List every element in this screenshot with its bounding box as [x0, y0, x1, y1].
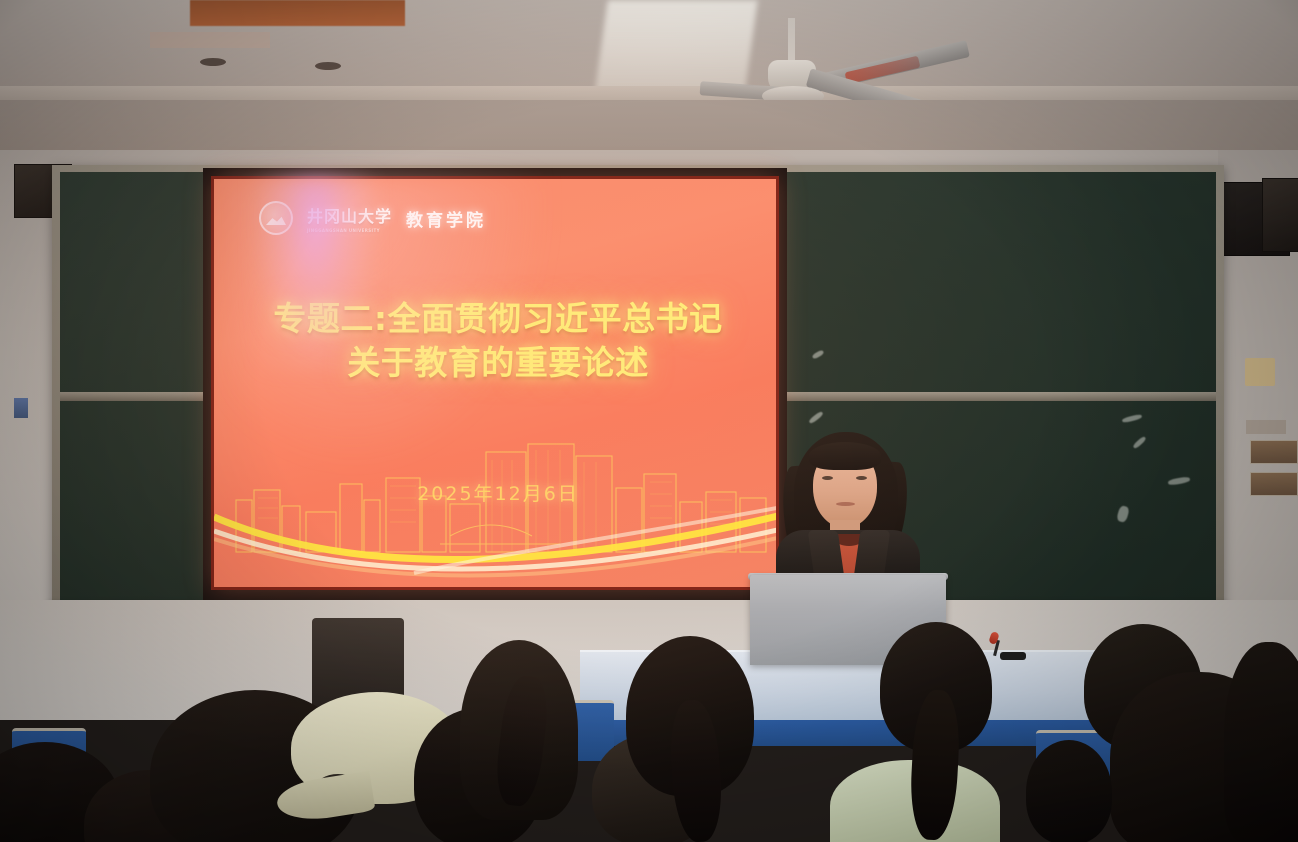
university-name: 井冈山大学 JINGGANGSHAN UNIVERSITY	[307, 203, 392, 233]
ceiling-panel	[190, 0, 405, 26]
university-seal-icon	[259, 201, 293, 235]
ribbon-graphic	[214, 477, 779, 587]
presenter-eye	[856, 476, 867, 480]
presenter	[768, 430, 928, 590]
slide-title-line2: 关于教育的重要论述	[214, 341, 779, 385]
slide-title: 专题二:全面贯彻习近平总书记 关于教育的重要论述	[214, 297, 779, 385]
fan-rod	[788, 18, 795, 64]
presenter-fringe	[809, 442, 881, 470]
slide-title-line1: 专题二:全面贯彻习近平总书记	[214, 297, 779, 341]
university-name-pinyin: JINGGANGSHAN UNIVERSITY	[307, 228, 392, 233]
wall-strip	[1246, 420, 1286, 434]
presenter-eye	[822, 476, 833, 480]
ceiling-hole	[315, 62, 341, 70]
lecture-hall-photo: 2025年 12月 6日 18:11:39 井冈山大学 JINGGANGSHAN…	[0, 0, 1298, 842]
presentation-slide: 井冈山大学 JINGGANGSHAN UNIVERSITY 教育学院 专题二:全…	[211, 176, 779, 590]
wall-plaque	[1250, 440, 1298, 464]
university-name-text: 井冈山大学	[307, 207, 392, 226]
corner-speaker	[1262, 178, 1298, 252]
college-name: 教育学院	[406, 206, 486, 231]
audience-head	[1224, 642, 1298, 842]
wall-sign-left	[14, 398, 28, 418]
ceiling-hole	[200, 58, 226, 66]
mic-base	[1000, 652, 1026, 660]
audience-head	[1026, 740, 1112, 842]
presenter-mouth	[836, 502, 855, 506]
wall-plaque	[1250, 472, 1298, 496]
wall-notice	[1245, 358, 1275, 386]
slide-logo-row: 井冈山大学 JINGGANGSHAN UNIVERSITY 教育学院	[259, 201, 486, 235]
